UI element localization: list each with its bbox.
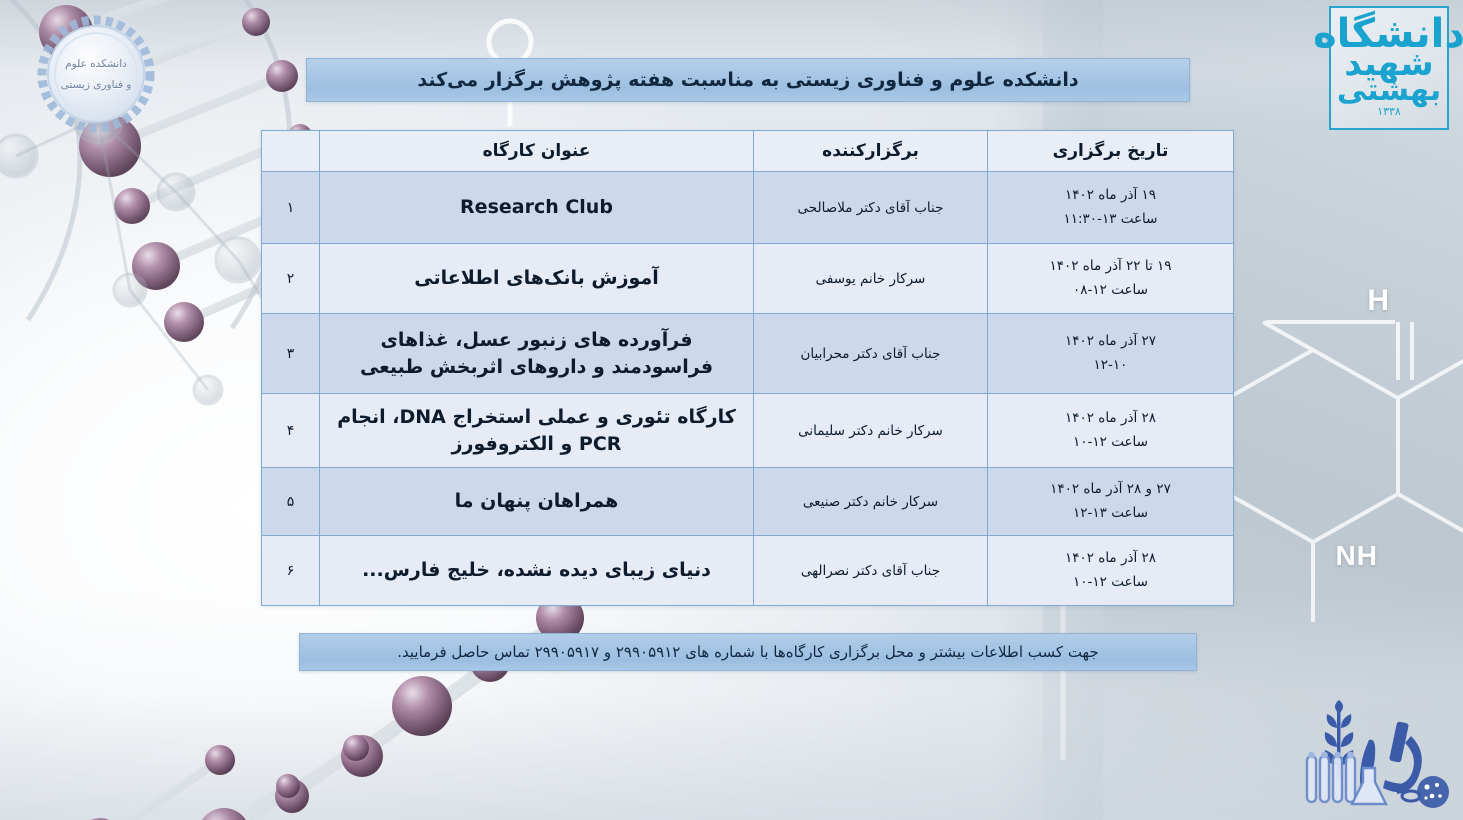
- workshop-schedule-table-wrap: تاریخ برگزاری برگزارکننده عنوان کارگاه ۱…: [262, 130, 1234, 606]
- biotech-illustration-logo: [1293, 692, 1453, 816]
- cell-number: ۴: [262, 394, 320, 468]
- cell-title: Research Club: [320, 172, 754, 244]
- cell-host: سرکار خانم دکتر سلیمانی: [754, 394, 988, 468]
- faculty-seal-icon: [12, 14, 180, 134]
- chem-label-nh: NH: [1336, 540, 1378, 572]
- column-header-title: عنوان کارگاه: [320, 131, 754, 172]
- cell-host: جناب آقای دکتر ملاصالحی: [754, 172, 988, 244]
- cell-title: دنیای زیبای دیده نشده، خلیج فارس...: [320, 536, 754, 606]
- cell-host: جناب آقای دکتر محرابیان: [754, 314, 988, 394]
- table-row: ۱۹ آذر ماه ۱۴۰۲ ساعت ۱۳-۱۱:۳۰ جناب آقای …: [262, 172, 1234, 244]
- university-logo-frame: دانشگاه شهید بهشتی ۱۳۳۸: [1329, 6, 1449, 130]
- table-row: ۲۸ آذر ماه ۱۴۰۲ ساعت ۱۲-۱۰ سرکار خانم دک…: [262, 394, 1234, 468]
- cell-date: ۲۷ و ۲۸ آذر ماه ۱۴۰۲ ساعت ۱۳-۱۲: [988, 468, 1234, 536]
- table-row: ۲۷ آذر ماه ۱۴۰۲ ۱۲-۱۰ جناب آقای دکتر محر…: [262, 314, 1234, 394]
- cell-date: ۱۹ آذر ماه ۱۴۰۲ ساعت ۱۳-۱۱:۳۰: [988, 172, 1234, 244]
- date-line-2: ساعت ۱۲-۰۸: [996, 279, 1225, 302]
- table-row: ۲۸ آذر ماه ۱۴۰۲ ساعت ۱۲-۱۰ جناب آقای دکت…: [262, 536, 1234, 606]
- cell-number: ۱: [262, 172, 320, 244]
- date-line-2: ساعت ۱۲-۱۰: [996, 571, 1225, 594]
- cell-date: ۲۷ آذر ماه ۱۴۰۲ ۱۲-۱۰: [988, 314, 1234, 394]
- banner-title-text: دانشکده علوم و فناوری زیستی به مناسبت هف…: [417, 69, 1078, 91]
- date-line-1: ۱۹ تا ۲۲ آذر ماه ۱۴۰۲: [996, 255, 1225, 278]
- title-banner: دانشکده علوم و فناوری زیستی به مناسبت هف…: [306, 58, 1190, 102]
- column-header-date: تاریخ برگزاری: [988, 131, 1234, 172]
- date-line-2: ساعت ۱۲-۱۰: [996, 431, 1225, 454]
- cell-host: سرکار خانم دکتر صنیعی: [754, 468, 988, 536]
- university-logo-line3: بهشتی: [1313, 79, 1463, 104]
- cell-date: ۱۹ تا ۲۲ آذر ماه ۱۴۰۲ ساعت ۱۲-۰۸: [988, 244, 1234, 314]
- poster-canvas: CH3 H NH: [0, 0, 1463, 820]
- table-row: ۱۹ تا ۲۲ آذر ماه ۱۴۰۲ ساعت ۱۲-۰۸ سرکار خ…: [262, 244, 1234, 314]
- cell-date: ۲۸ آذر ماه ۱۴۰۲ ساعت ۱۲-۱۰: [988, 536, 1234, 606]
- date-line-2: ساعت ۱۳-۱۱:۳۰: [996, 208, 1225, 231]
- date-line-1: ۲۸ آذر ماه ۱۴۰۲: [996, 547, 1225, 570]
- cell-title: همراهان پنهان ما: [320, 468, 754, 536]
- date-line-1: ۱۹ آذر ماه ۱۴۰۲: [996, 184, 1225, 207]
- date-line-1: ۲۸ آذر ماه ۱۴۰۲: [996, 407, 1225, 430]
- contact-info-text: جهت کسب اطلاعات بیشتر و محل برگزاری کارگ…: [397, 643, 1099, 661]
- column-header-host: برگزارکننده: [754, 131, 988, 172]
- cell-number: ۵: [262, 468, 320, 536]
- cell-host: سرکار خانم یوسفی: [754, 244, 988, 314]
- cell-date: ۲۸ آذر ماه ۱۴۰۲ ساعت ۱۲-۱۰: [988, 394, 1234, 468]
- background-bottom-haze: [0, 590, 1463, 820]
- cell-title: آموزش بانک‌های اطلاعاتی: [320, 244, 754, 314]
- cell-number: ۶: [262, 536, 320, 606]
- date-line-1: ۲۷ آذر ماه ۱۴۰۲: [996, 330, 1225, 353]
- university-logo: دانشگاه شهید بهشتی ۱۳۳۸: [1323, 2, 1455, 142]
- faculty-seal-logo: دانشکده علوم و فناوری زیستی: [12, 14, 180, 134]
- table-row: ۲۷ و ۲۸ آذر ماه ۱۴۰۲ ساعت ۱۳-۱۲ سرکار خا…: [262, 468, 1234, 536]
- table-header-row: تاریخ برگزاری برگزارکننده عنوان کارگاه: [262, 131, 1234, 172]
- date-line-2: ساعت ۱۳-۱۲: [996, 502, 1225, 525]
- contact-info-banner: جهت کسب اطلاعات بیشتر و محل برگزاری کارگ…: [299, 633, 1197, 671]
- workshop-schedule-table: تاریخ برگزاری برگزارکننده عنوان کارگاه ۱…: [261, 130, 1234, 606]
- chem-label-h: H: [1367, 284, 1390, 318]
- date-line-2: ۱۲-۱۰: [996, 354, 1225, 377]
- university-logo-year: ۱۳۳۸: [1377, 105, 1401, 118]
- column-header-number: [262, 131, 320, 172]
- cell-number: ۳: [262, 314, 320, 394]
- biotech-illustration-icon: [1293, 692, 1453, 816]
- cell-title: فرآورده های زنبور عسل، غذاهای فراسودمند …: [320, 314, 754, 394]
- cell-number: ۲: [262, 244, 320, 314]
- cell-title: کارگاه تئوری و عملی استخراج DNA، انجام P…: [320, 394, 754, 468]
- date-line-1: ۲۷ و ۲۸ آذر ماه ۱۴۰۲: [996, 478, 1225, 501]
- university-logo-script: دانشگاه شهید بهشتی: [1313, 18, 1463, 103]
- cell-host: جناب آقای دکتر نصرالهی: [754, 536, 988, 606]
